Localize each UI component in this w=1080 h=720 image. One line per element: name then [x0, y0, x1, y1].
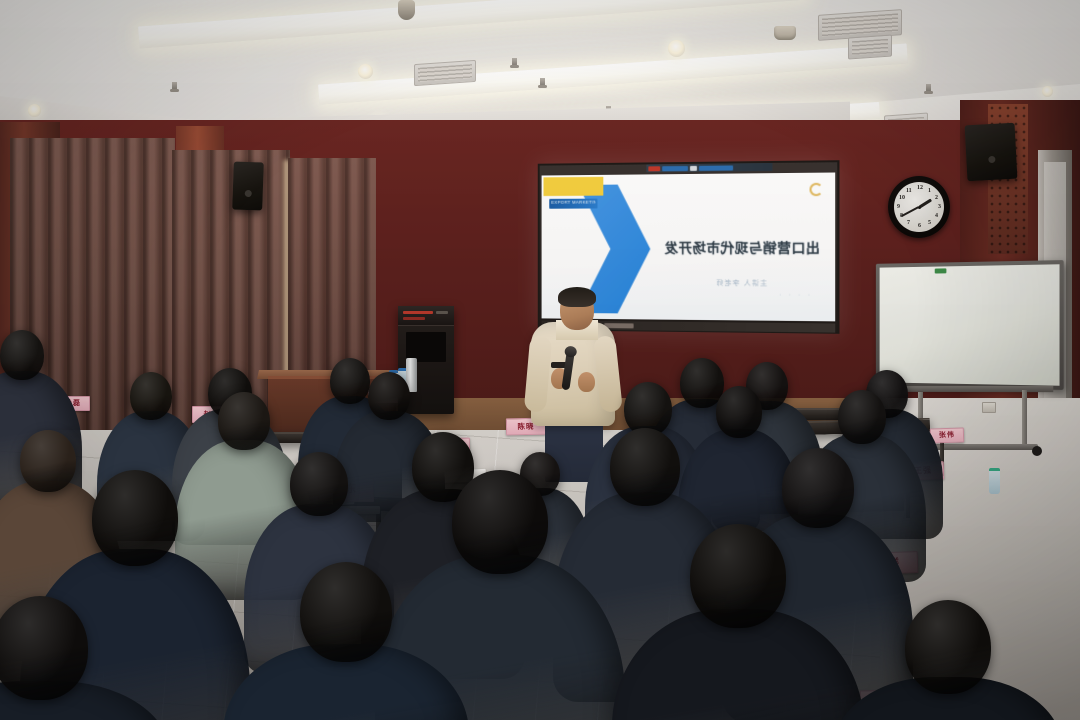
clock-numeral: 9 — [897, 204, 900, 210]
wall-outlet — [982, 402, 996, 413]
slide-title: 出口营销与现代市场开发 — [656, 237, 828, 257]
whiteboard-marker-tray — [883, 386, 1053, 392]
audience-member-head — [610, 428, 680, 506]
slide-subtitle: 主讲人 李老师 — [656, 278, 828, 289]
clock-numeral: 3 — [938, 204, 941, 210]
presenter-right-hand — [578, 372, 595, 392]
whiteboard-frame — [876, 260, 1064, 390]
clock-numeral: 5 — [928, 220, 931, 226]
audience-member-head — [452, 470, 548, 574]
name-card-text: 张伟 — [939, 432, 955, 440]
audience-member-head — [0, 330, 44, 380]
air-vent — [414, 60, 476, 86]
audience-member-head — [0, 596, 88, 700]
ceiling-speaker-icon — [774, 26, 796, 40]
audience-member-head — [716, 386, 762, 438]
clock-numeral: 12 — [917, 185, 923, 191]
whiteboard-leg — [1022, 390, 1027, 448]
audience-member-head — [218, 392, 270, 450]
slide-logo-icon — [810, 183, 823, 196]
clock-numeral: 11 — [906, 188, 912, 194]
ceiling-camera-icon — [398, 0, 415, 20]
clock-numeral: 10 — [899, 195, 905, 201]
ceiling-light-strip — [138, 0, 808, 49]
whiteboard-magnet-icon — [935, 268, 947, 273]
audience-member-head — [905, 600, 991, 694]
clock-numeral: 7 — [907, 220, 910, 226]
sprinkler-icon — [540, 78, 545, 87]
downlight-icon — [1042, 86, 1053, 97]
air-vent — [848, 34, 892, 59]
projector-toolbar[interactable] — [646, 163, 772, 172]
wall-speaker-icon — [965, 123, 1018, 182]
av-led-indicator — [403, 317, 425, 320]
presenter-hair — [558, 287, 596, 307]
slide-dots: · · · · — [779, 292, 813, 299]
whiteboard-surface[interactable] — [880, 264, 1060, 385]
audience-member-head — [300, 562, 392, 662]
clock-face: 12 1 2 3 4 5 6 7 8 9 10 11 — [894, 182, 944, 232]
wall-speaker-icon — [232, 161, 264, 210]
audience-member-head — [838, 390, 886, 444]
audience-member-head — [20, 430, 76, 492]
clock-numeral: 4 — [935, 213, 938, 219]
sprinkler-icon — [512, 58, 517, 67]
clock-center-pin — [918, 206, 921, 209]
clock-numeral: 6 — [918, 223, 921, 229]
clock-numeral: 2 — [935, 195, 938, 201]
audience-member-head — [690, 524, 786, 628]
wall-clock: 12 1 2 3 4 5 6 7 8 9 10 11 — [888, 176, 950, 238]
slide-yellow-block — [543, 177, 603, 196]
av-rack-top-panel — [398, 306, 454, 326]
av-led-indicator — [436, 311, 448, 314]
conference-room-photo: 12 1 2 3 4 5 6 7 8 9 10 11 — [0, 0, 1080, 720]
audience-member-head — [290, 452, 348, 516]
sprinkler-icon — [172, 82, 177, 91]
downlight-icon — [358, 64, 373, 79]
audience-member-head — [330, 358, 370, 404]
clock-minute-hand — [901, 206, 920, 217]
audience-member-head — [368, 372, 410, 420]
audience-member-head — [92, 470, 178, 566]
sprinkler-icon — [926, 84, 931, 93]
downlight-icon — [28, 104, 41, 117]
av-led-indicator — [403, 311, 433, 314]
slide-tag-label: EXPORT MARKETING — [551, 200, 595, 205]
name-card-text: 陈晓 — [517, 423, 534, 431]
toolbar-record-chip[interactable] — [648, 166, 660, 171]
whiteboard-wheel — [1032, 446, 1042, 456]
downlight-icon — [668, 40, 685, 57]
clock-numeral: 1 — [928, 188, 931, 194]
audience-member-head — [130, 372, 172, 420]
water-bottle — [989, 468, 1000, 494]
audience-member-head — [782, 448, 854, 528]
ceiling-light-strip — [318, 43, 908, 104]
